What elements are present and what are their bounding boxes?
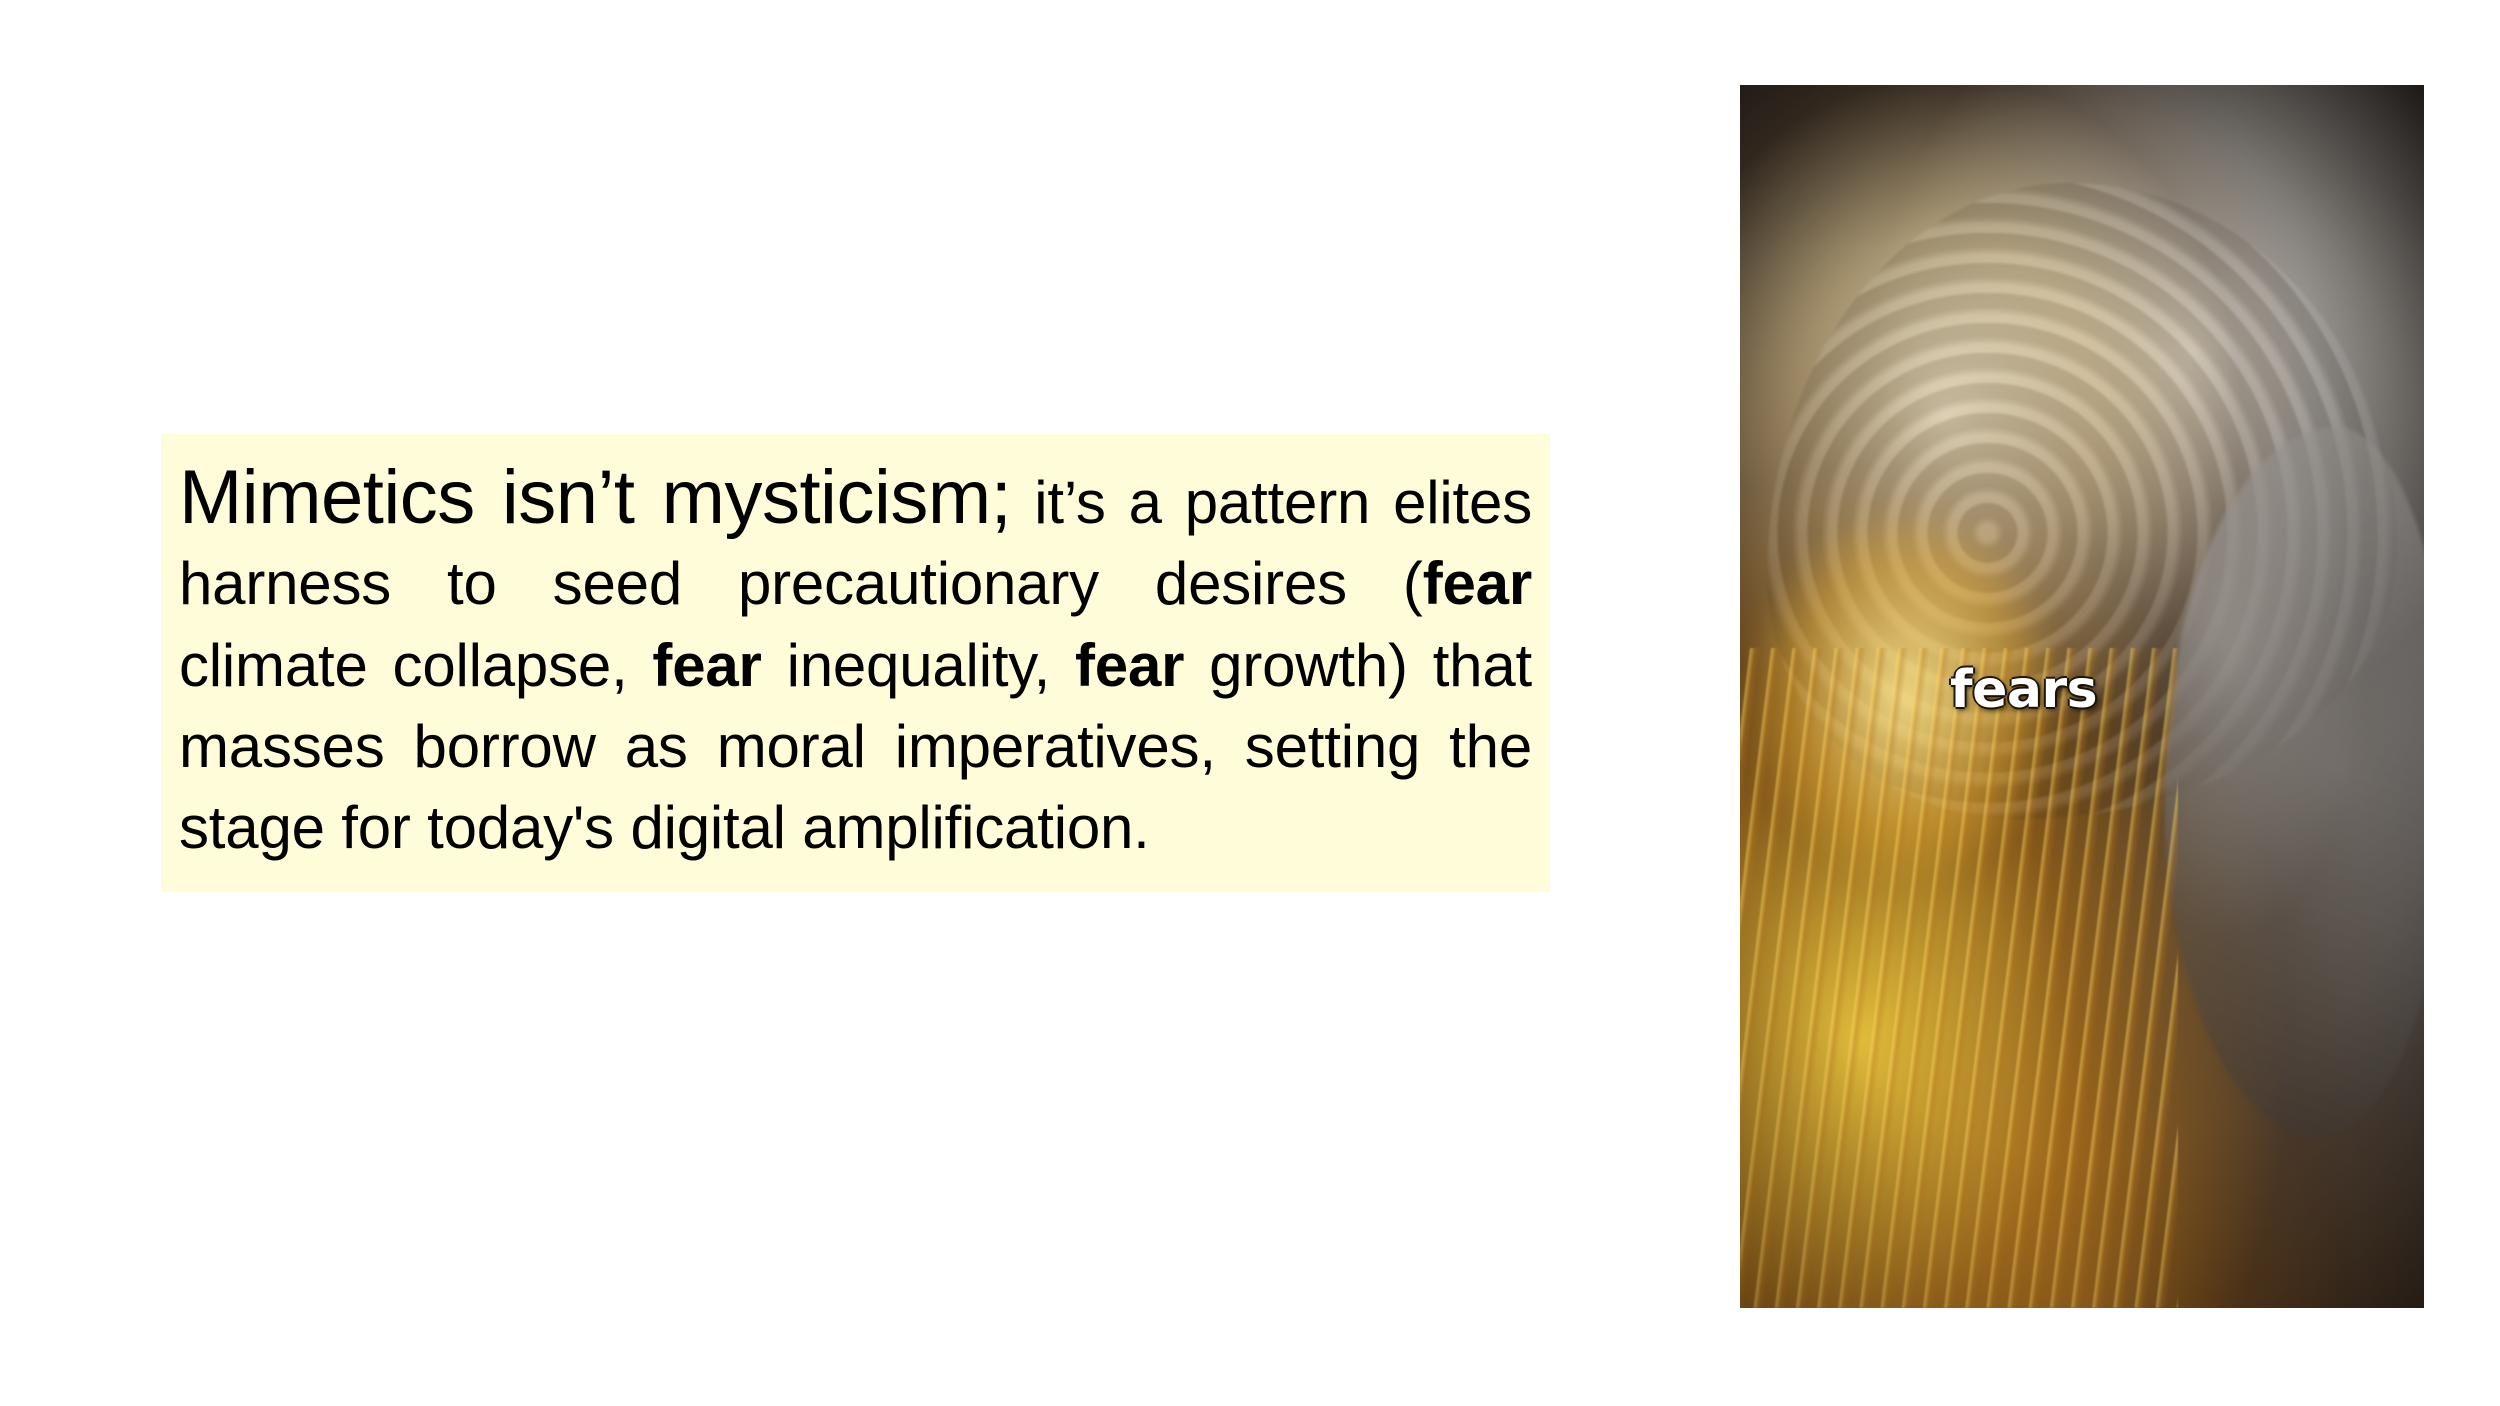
paragraph: Mimetics isn’t mysticism; it’s a pattern… xyxy=(161,460,1550,868)
emphasis-fear-3: fear xyxy=(1050,632,1184,699)
lead-phrase: Mimetics isn’t mysticism; xyxy=(179,455,1011,540)
emphasis-fear-2: fear xyxy=(628,632,762,699)
slide-canvas: Mimetics isn’t mysticism; it’s a pattern… xyxy=(0,0,2500,1406)
emphasis-fear-1: fear xyxy=(1423,550,1532,617)
body-run-2: climate collapse, xyxy=(179,632,628,699)
body-run-4: inequality, xyxy=(762,632,1050,699)
brain-illustration: fears xyxy=(1740,85,2424,1308)
fears-caption: fears xyxy=(1950,660,2097,720)
highlighted-text-block: Mimetics isn’t mysticism; it’s a pattern… xyxy=(161,434,1550,892)
